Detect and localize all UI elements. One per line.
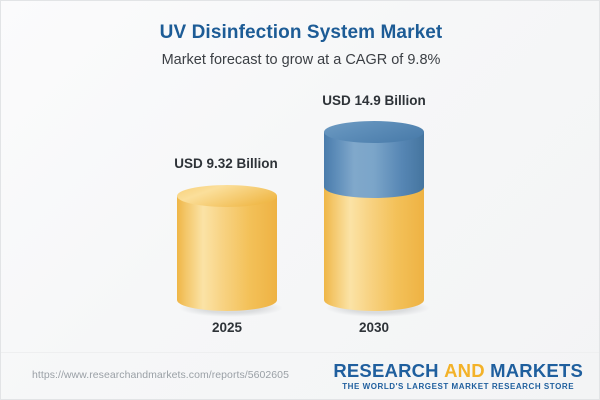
cylinder-2025[interactable] <box>177 185 277 317</box>
brand-logo-tagline: THE WORLD'S LARGEST MARKET RESEARCH STOR… <box>333 382 583 391</box>
bar-category-label-2030: 2030 <box>274 320 474 335</box>
brand-logo-word-and: AND <box>444 360 485 381</box>
brand-logo[interactable]: RESEARCH AND MARKETS THE WORLD'S LARGEST… <box>333 361 583 391</box>
bar-value-label-2030: USD 14.9 Billion <box>274 93 474 108</box>
footer: https://www.researchandmarkets.com/repor… <box>1 352 600 399</box>
brand-logo-word-markets: MARKETS <box>490 360 583 381</box>
brand-logo-word-research: RESEARCH <box>333 360 438 381</box>
infographic-card: UV Disinfection System Market Market for… <box>0 0 600 400</box>
cylinder-2030[interactable] <box>324 121 424 317</box>
bar-value-label-2025: USD 9.32 Billion <box>126 156 326 171</box>
brand-logo-wordmark: RESEARCH AND MARKETS <box>333 361 583 380</box>
source-url[interactable]: https://www.researchandmarkets.com/repor… <box>32 369 289 381</box>
chart-plot-area: USD 9.32 Billion <box>1 1 600 353</box>
